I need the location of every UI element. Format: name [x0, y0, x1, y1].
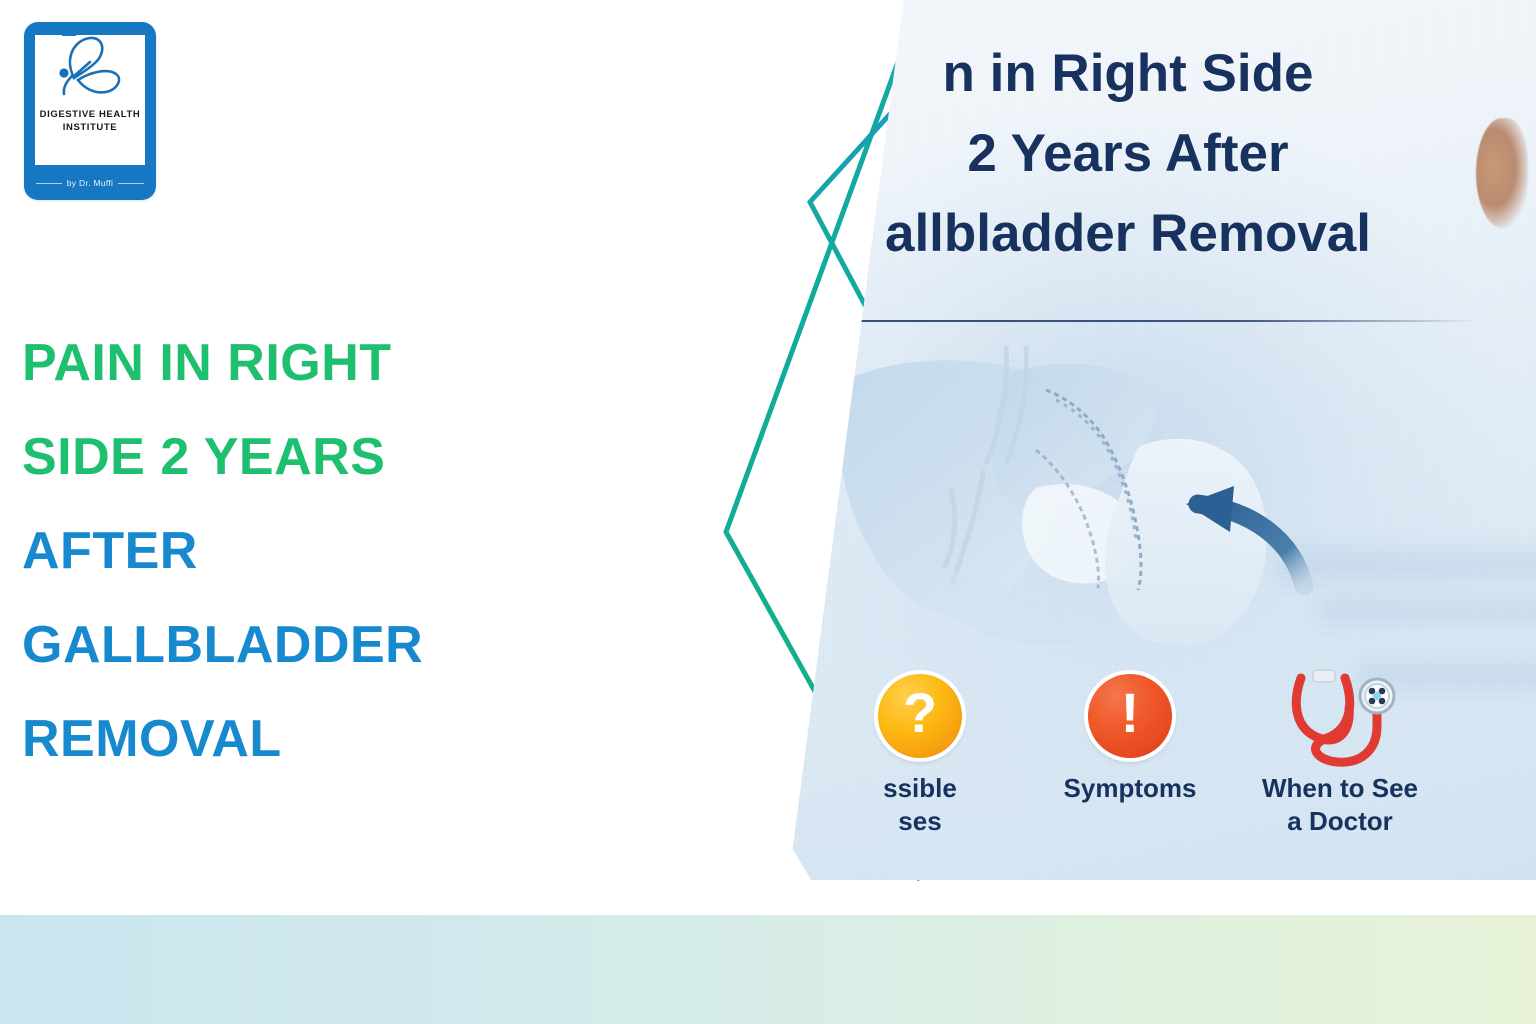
- caption-1-line-1: ssible: [820, 772, 1020, 805]
- hero-title-line-3: allbladder Removal: [760, 194, 1496, 274]
- question-mark-glyph: ?: [903, 685, 937, 741]
- caption-2-line-1: Symptoms: [1030, 772, 1230, 805]
- hero-icon-caption-1: ssible ses: [820, 772, 1020, 838]
- article-hero-image: n in Right Side 2 Years After allbladder…: [760, 0, 1536, 880]
- butterfly-body-dot: [59, 68, 68, 77]
- logo-rule-right: [118, 183, 144, 184]
- logo-subtitle: by Dr. Muffi: [24, 178, 156, 188]
- caption-3-line-2: a Doctor: [1240, 805, 1440, 838]
- logo-title: DIGESTIVE HEALTH INSTITUTE: [24, 108, 156, 134]
- logo-title-line2: INSTITUTE: [24, 121, 156, 134]
- logo-title-line1: DIGESTIVE HEALTH: [24, 108, 156, 121]
- hero-icon-caption-2: Symptoms: [1030, 772, 1230, 805]
- butterfly-icon: [44, 32, 136, 106]
- stethoscope-icon: [1240, 668, 1440, 764]
- stethoscope-yoke: [1313, 670, 1335, 682]
- exclamation-mark-badge-icon: !: [1030, 668, 1230, 764]
- brand-logo[interactable]: DIGESTIVE HEALTH INSTITUTE by Dr. Muffi: [24, 22, 156, 200]
- headline-line-2: SIDE 2 YEARS: [22, 410, 602, 504]
- headline-line-5: REMOVAL: [22, 692, 602, 786]
- hero-icon-caption-3: When to See a Doctor: [1240, 772, 1440, 838]
- headline-line-3: AFTER: [22, 504, 602, 598]
- page-canvas: DIGESTIVE HEALTH INSTITUTE by Dr. Muffi …: [0, 0, 1536, 1024]
- hero-icon-possible-causes[interactable]: ? ssible ses: [820, 668, 1020, 838]
- logo-rule-left: [36, 183, 62, 184]
- headline-line-1: PAIN IN RIGHT: [22, 316, 602, 410]
- hero-title: n in Right Side 2 Years After allbladder…: [760, 34, 1496, 274]
- logo-subtitle-text: by Dr. Muffi: [67, 178, 113, 188]
- caption-1-line-2: ses: [820, 805, 1020, 838]
- exclamation-mark-glyph: !: [1121, 685, 1140, 741]
- hero-icon-symptoms[interactable]: ! Symptoms: [1030, 668, 1230, 805]
- hand-sliver: [1476, 118, 1528, 228]
- anatomy-illustration: [800, 338, 1440, 668]
- hero-icon-when-to-see-a-doctor[interactable]: When to See a Doctor: [1240, 668, 1440, 838]
- hero-title-line-1: n in Right Side: [760, 34, 1496, 114]
- headline-line-4: GALLBLADDER: [22, 598, 602, 692]
- hero-title-divider: [778, 320, 1478, 322]
- hero-icon-row: ? ssible ses ! Symptoms: [760, 668, 1500, 868]
- page-title: PAIN IN RIGHT SIDE 2 YEARS AFTER GALLBLA…: [22, 316, 602, 786]
- stomach: [1105, 439, 1267, 646]
- question-mark-badge-icon: ?: [820, 668, 1020, 764]
- hero-title-line-2: 2 Years After: [760, 114, 1496, 194]
- caption-3-line-1: When to See: [1240, 772, 1440, 805]
- footer-gradient-band: [0, 915, 1536, 1024]
